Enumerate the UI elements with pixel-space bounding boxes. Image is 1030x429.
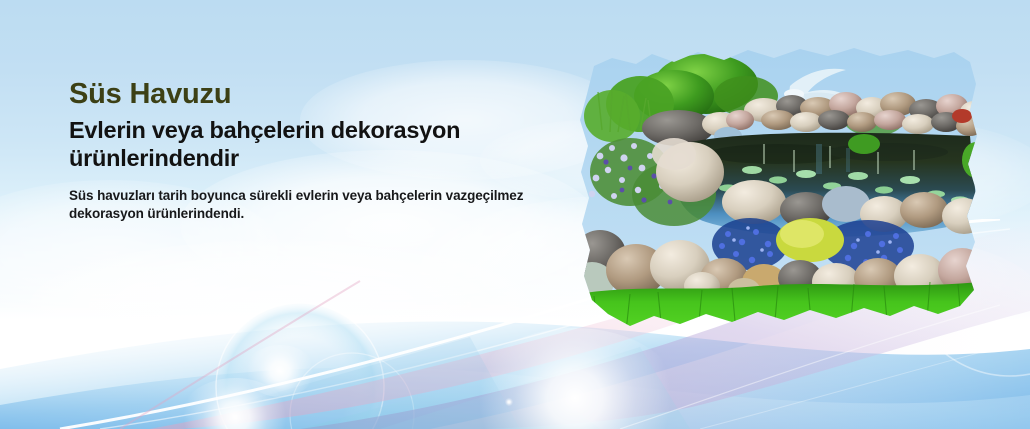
swirl-circle-large xyxy=(216,303,384,429)
glow-spot xyxy=(180,378,290,429)
page-title: Süs Havuzu xyxy=(69,78,569,111)
swirl-circle-outline xyxy=(216,303,384,429)
glow-spot xyxy=(470,328,680,429)
swirl-shard xyxy=(300,369,600,429)
glow-spot xyxy=(245,345,315,397)
swirl-shard xyxy=(150,337,520,429)
subheadline: Evlerin veya bahçelerin dekorasyon ürünl… xyxy=(69,116,549,173)
pond-photo xyxy=(578,44,980,332)
cloud-shape xyxy=(30,240,530,370)
swirl-arc xyxy=(700,339,1030,429)
swirl-shard xyxy=(380,347,690,429)
water-plant xyxy=(848,134,880,154)
yellow-moss xyxy=(780,220,824,248)
swirl-circle-small xyxy=(290,353,414,429)
rock xyxy=(900,192,948,228)
glow-dot xyxy=(505,398,513,406)
swirl-blue-wave xyxy=(0,321,1030,429)
swirl-blue-band xyxy=(0,367,1030,429)
body-paragraph: Süs havuzları tarih boyunca sürekli evle… xyxy=(69,187,539,224)
grass xyxy=(578,282,980,332)
rock xyxy=(652,138,696,170)
banner-copy: Süs Havuzu Evlerin veya bahçelerin dekor… xyxy=(69,78,569,224)
rock xyxy=(726,110,754,130)
rock xyxy=(722,180,786,224)
promo-banner: Süs Havuzu Evlerin veya bahçelerin dekor… xyxy=(0,0,1030,429)
